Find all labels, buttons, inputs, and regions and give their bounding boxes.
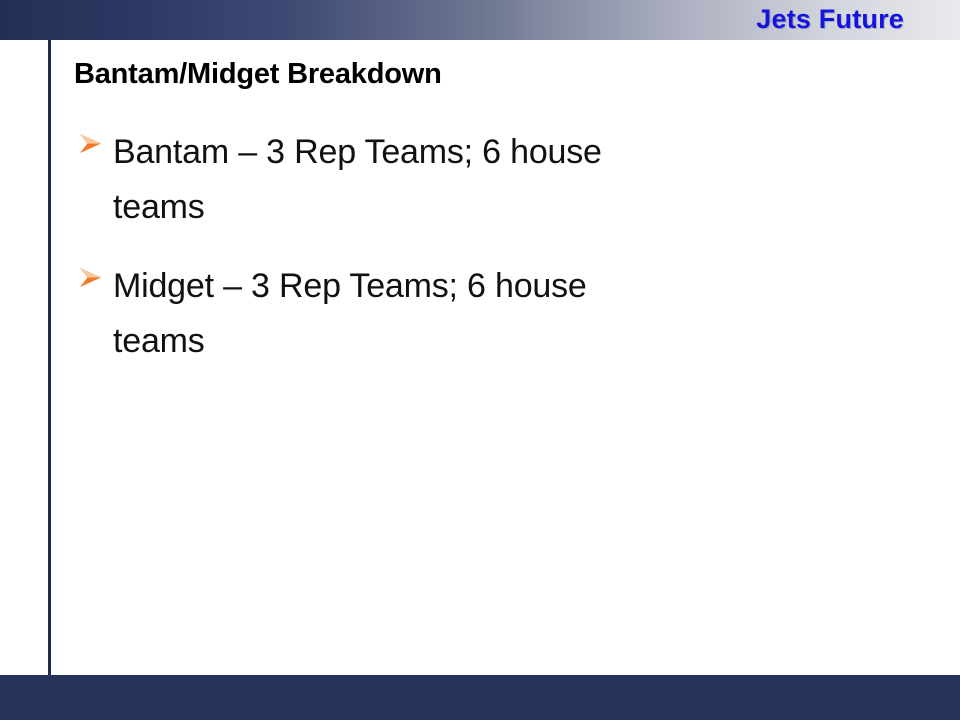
slide-content: Bantam/Midget Breakdown Bantam – 3 Rep T… — [74, 58, 904, 369]
presentation-title: Jets Future — [756, 4, 904, 35]
slide-header-band: Jets Future — [0, 0, 960, 40]
slide-title: Bantam/Midget Breakdown — [74, 58, 904, 91]
list-item-label: Bantam – 3 Rep Teams; 6 house teams — [113, 133, 602, 226]
list-item: Midget – 3 Rep Teams; 6 house teams — [74, 259, 613, 369]
slide-canvas: Jets Future Bantam/Midget Breakdown Bant… — [0, 0, 960, 720]
list-item-label: Midget – 3 Rep Teams; 6 house teams — [113, 267, 587, 360]
arrowhead-bullet-icon — [78, 265, 104, 299]
slide-footer-band — [0, 675, 960, 720]
left-accent-rule — [48, 40, 51, 690]
list-item: Bantam – 3 Rep Teams; 6 house teams — [74, 125, 613, 235]
bullet-list: Bantam – 3 Rep Teams; 6 house teams Midg… — [74, 125, 904, 369]
arrowhead-bullet-icon — [78, 131, 104, 165]
